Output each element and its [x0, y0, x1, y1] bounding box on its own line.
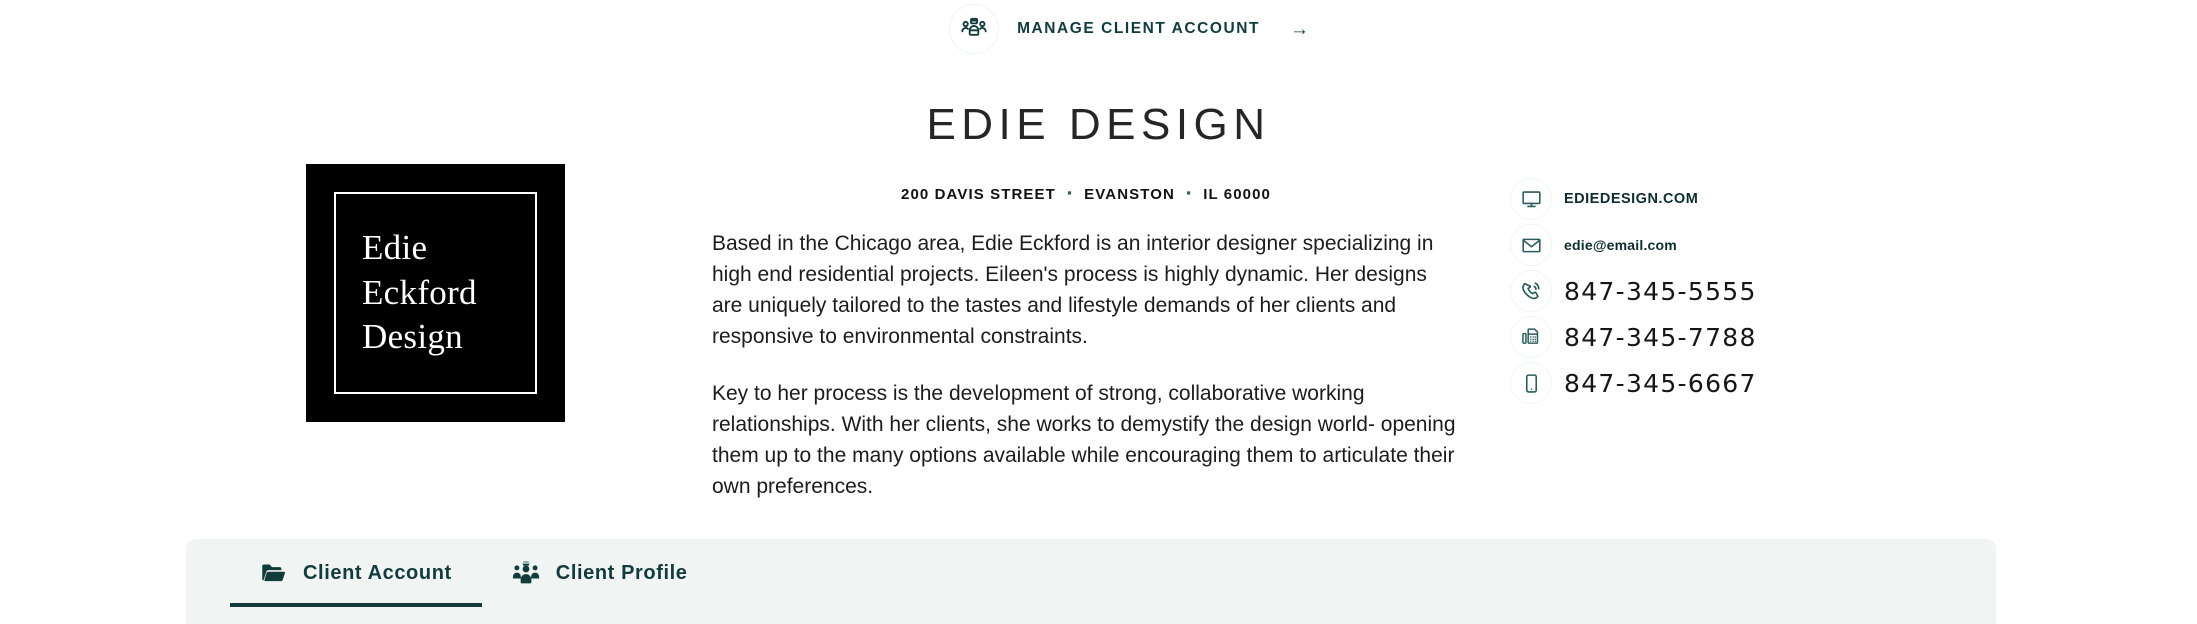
address-state-zip: IL 60000 — [1203, 186, 1271, 203]
tab-client-account-label: Client Account — [303, 562, 452, 585]
logo-line-2: Eckford — [362, 271, 535, 315]
address-city: EVANSTON — [1084, 186, 1175, 203]
tab-list: Client Account Client Profile — [186, 539, 1996, 624]
page-title: EDIE DESIGN — [0, 103, 2197, 147]
users-group-icon — [512, 559, 540, 587]
top-bar: MANAGE CLIENT ACCOUNT → — [0, 0, 2197, 58]
contact-details-column: EDIEDESIGN.COM edie@email.com 847-345-55… — [1510, 176, 1757, 406]
bottom-tab-panel: Client Account Client Profile — [186, 539, 1996, 624]
users-group-icon — [949, 4, 999, 54]
tab-client-profile[interactable]: Client Profile — [482, 539, 718, 607]
logo-line-3: Design — [362, 315, 535, 359]
contact-row-email[interactable]: edie@email.com — [1510, 222, 1757, 268]
contact-value-email: edie@email.com — [1564, 237, 1677, 253]
tab-client-account[interactable]: Client Account — [230, 539, 482, 607]
bio-paragraph-1: Based in the Chicago area, Edie Eckford … — [712, 228, 1460, 352]
contact-value-fax: 847-345-7788 — [1564, 323, 1757, 352]
mobile-icon — [1510, 362, 1552, 404]
address-street: 200 DAVIS STREET — [901, 186, 1056, 203]
manage-client-account-label: MANAGE CLIENT ACCOUNT — [1017, 20, 1260, 38]
contact-row-website[interactable]: EDIEDESIGN.COM — [1510, 176, 1757, 222]
manage-client-account-button[interactable]: MANAGE CLIENT ACCOUNT → — [949, 4, 1309, 54]
contact-row-fax[interactable]: 847-345-7788 — [1510, 314, 1757, 360]
contact-value-phone: 847-345-5555 — [1564, 277, 1757, 306]
logo-inner-frame: Edie Eckford Design — [334, 192, 537, 394]
tab-client-profile-label: Client Profile — [556, 562, 688, 585]
profile-main-column: 200 DAVIS STREET ▪ EVANSTON ▪ IL 60000 B… — [712, 186, 1460, 528]
arrow-right-icon: → — [1290, 20, 1309, 39]
logo-line-1: Edie — [362, 226, 535, 270]
phone-icon — [1510, 270, 1552, 312]
bio-paragraph-2: Key to her process is the development of… — [712, 378, 1460, 502]
contact-value-mobile: 847-345-6667 — [1564, 369, 1757, 398]
address-line: 200 DAVIS STREET ▪ EVANSTON ▪ IL 60000 — [712, 186, 1460, 203]
folder-open-icon — [260, 560, 287, 587]
company-logo: Edie Eckford Design — [306, 164, 565, 422]
address-separator-2: ▪ — [1180, 185, 1198, 200]
envelope-icon — [1510, 224, 1552, 266]
contact-row-phone[interactable]: 847-345-5555 — [1510, 268, 1757, 314]
contact-value-website: EDIEDESIGN.COM — [1564, 191, 1698, 207]
monitor-icon — [1510, 178, 1552, 220]
address-separator-1: ▪ — [1061, 185, 1079, 200]
fax-icon — [1510, 316, 1552, 358]
contact-row-mobile[interactable]: 847-345-6667 — [1510, 360, 1757, 406]
